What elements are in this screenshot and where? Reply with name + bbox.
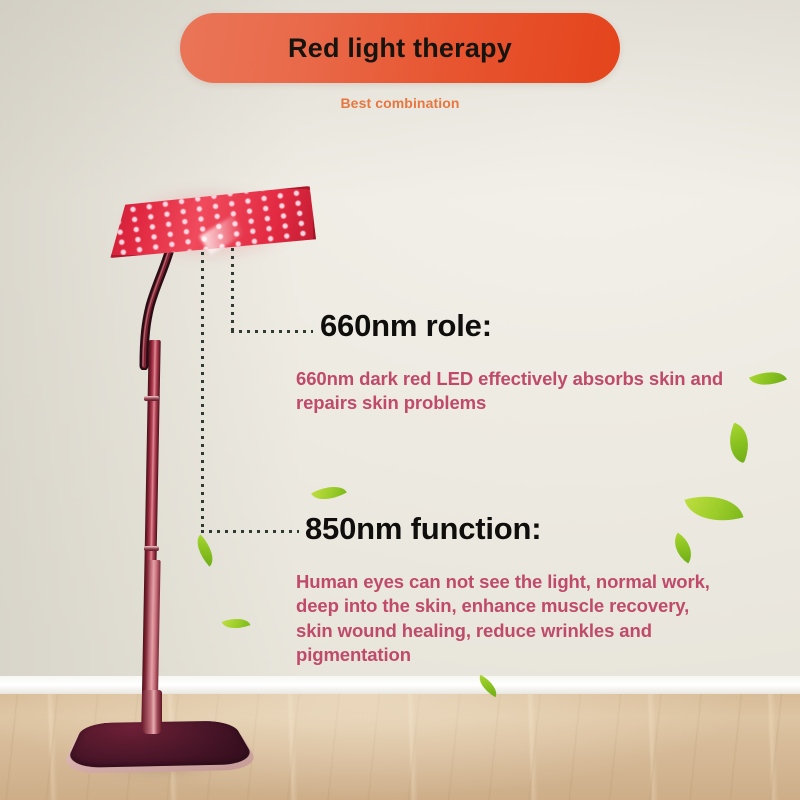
pole-joint-upper — [144, 396, 159, 401]
base-collar — [142, 690, 162, 734]
callout-body-660nm: 660nm dark red LED effectively absorbs s… — [296, 367, 726, 416]
callout-heading-850nm: 850nm function: — [305, 511, 541, 547]
product-marketing-image: Red light therapy Best combination — [0, 0, 800, 800]
pole-joint-lower — [144, 546, 159, 551]
leader-line-660-vertical — [231, 248, 234, 332]
callout-body-850nm: Human eyes can not see the light, normal… — [296, 570, 726, 668]
led-panel-head — [104, 186, 316, 258]
leader-line-850-vertical — [201, 252, 204, 532]
leader-line-850-horizontal — [201, 530, 299, 533]
callout-heading-660nm: 660nm role: — [320, 308, 492, 344]
leader-line-660-horizontal — [231, 330, 313, 333]
